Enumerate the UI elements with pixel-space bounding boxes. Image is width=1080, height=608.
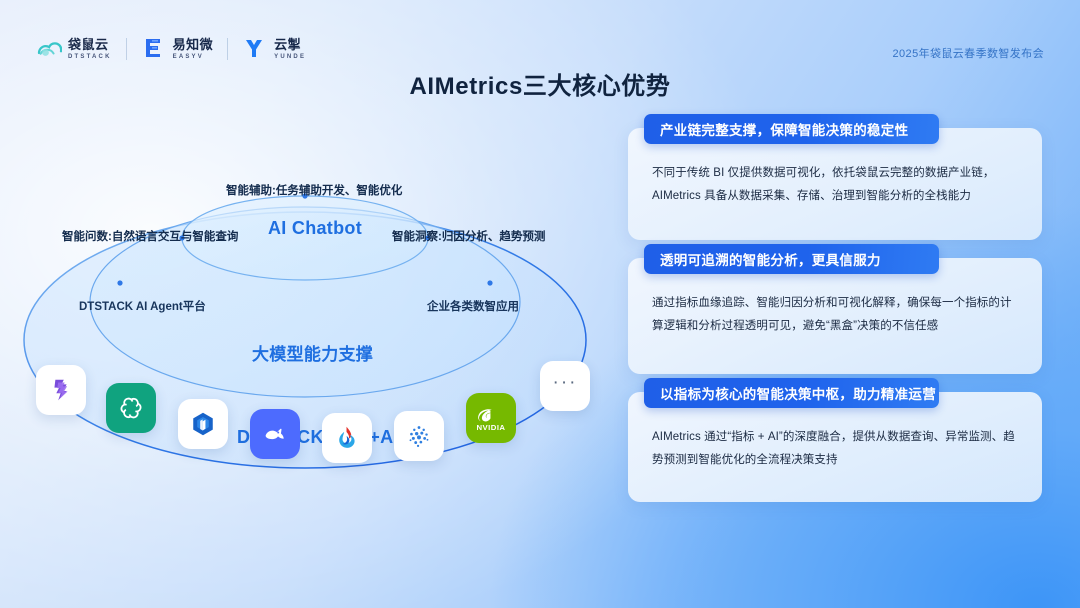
- spark-network-logo-icon[interactable]: [394, 411, 444, 461]
- logo-dtstack-en: DTSTACK: [68, 54, 112, 60]
- advantage-card-3-body: AIMetrics 通过“指标 + AI”的深度融合，提供从数据查询、异常监测、…: [628, 392, 1042, 502]
- logo-easyv-cn: 易知微: [173, 38, 214, 51]
- label-smart-assist: 智能辅助:任务辅助开发、智能优化: [226, 182, 402, 198]
- advantage-card-2-title: 透明可追溯的智能分析，更具信服力: [660, 249, 881, 269]
- event-tag: 2025年袋鼠云春季数智发布会: [893, 45, 1044, 61]
- easyv-logo-icon: [141, 36, 167, 62]
- advantage-card-3-title-pill: 以指标为核心的智能决策中枢，助力精准运营: [644, 378, 939, 408]
- advantage-card-3-text: AIMetrics 通过“指标 + AI”的深度融合，提供从数据查询、异常监测、…: [652, 426, 1018, 472]
- more-models-icon[interactable]: ···: [540, 361, 590, 411]
- dtstack-logo-icon: [36, 36, 62, 62]
- openai-logo-icon[interactable]: [106, 383, 156, 433]
- qwen-logo-icon[interactable]: [36, 365, 86, 415]
- logo-yunde-en: YUNDE: [274, 54, 306, 60]
- advantage-card-1-title-pill: 产业链完整支撑，保障智能决策的稳定性: [644, 114, 939, 144]
- ernie-logo-icon[interactable]: [322, 413, 372, 463]
- advantage-card-1-text: 不同于传统 BI 仅提供数据可视化，依托袋鼠云完整的数据产业链，AIMetric…: [652, 162, 1018, 208]
- advantage-card-3: 以指标为核心的智能决策中枢，助力精准运营 AIMetrics 通过“指标 + A…: [628, 392, 1042, 502]
- label-smart-query: 智能问数:自然语言交互与智能查询: [62, 228, 238, 244]
- yunde-logo-icon: [242, 36, 268, 62]
- logo-yunde: 云掣 YUNDE: [228, 36, 320, 62]
- more-models-label: ···: [553, 373, 578, 392]
- advantage-card-2-title-pill: 透明可追溯的智能分析，更具信服力: [644, 244, 939, 274]
- page-title: AIMetrics三大核心优势: [0, 66, 1080, 101]
- svg-text:NVIDIA: NVIDIA: [476, 423, 505, 432]
- model-vendor-icon-row: NVIDIA ···: [22, 355, 622, 465]
- center-label-ai-chatbot: AI Chatbot: [268, 218, 362, 239]
- logo-easyv-en: EASYV: [173, 54, 214, 60]
- label-agent-platform: DTSTACK AI Agent平台: [79, 298, 206, 314]
- logo-dtstack-cn: 袋鼠云: [68, 38, 112, 51]
- zhipu-glm-logo-icon[interactable]: [178, 399, 228, 449]
- advantage-card-3-title: 以指标为核心的智能决策中枢，助力精准运营: [660, 383, 936, 403]
- brand-logo-bar: 袋鼠云 DTSTACK 易知微 EASYV 云掣 YUNDE: [36, 36, 320, 62]
- advantage-card-1: 产业链完整支撑，保障智能决策的稳定性 不同于传统 BI 仅提供数据可视化，依托袋…: [628, 128, 1042, 240]
- nvidia-logo-icon[interactable]: NVIDIA: [466, 393, 516, 443]
- label-smart-insight: 智能洞察:归因分析、趋势预测: [392, 228, 545, 244]
- logo-yunde-cn: 云掣: [274, 38, 306, 51]
- advantage-card-2: 透明可追溯的智能分析，更具信服力 通过指标血缘追踪、智能归因分析和可视化解释，确…: [628, 258, 1042, 374]
- advantage-card-1-body: 不同于传统 BI 仅提供数据可视化，依托袋鼠云完整的数据产业链，AIMetric…: [628, 128, 1042, 240]
- label-enterprise-apps: 企业各类数智应用: [427, 298, 519, 314]
- advantage-card-list: 产业链完整支撑，保障智能决策的稳定性 不同于传统 BI 仅提供数据可视化，依托袋…: [628, 128, 1042, 520]
- logo-easyv: 易知微 EASYV: [127, 36, 228, 62]
- advantage-card-2-body: 通过指标血缘追踪、智能归因分析和可视化解释，确保每一个指标的计算逻辑和分析过程透…: [628, 258, 1042, 374]
- logo-dtstack: 袋鼠云 DTSTACK: [36, 36, 126, 62]
- advantage-card-1-title: 产业链完整支撑，保障智能决策的稳定性: [660, 119, 908, 139]
- deepseek-logo-icon[interactable]: [250, 409, 300, 459]
- advantage-card-2-text: 通过指标血缘追踪、智能归因分析和可视化解释，确保每一个指标的计算逻辑和分析过程透…: [652, 292, 1018, 338]
